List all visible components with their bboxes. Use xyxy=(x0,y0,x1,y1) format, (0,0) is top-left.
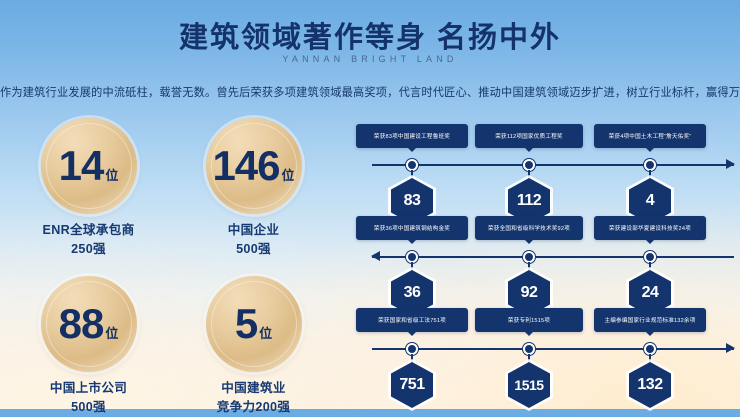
timeline-arrow-right-icon xyxy=(726,343,735,353)
page-title: 建筑领域著作等身 名扬中外 xyxy=(0,14,740,56)
award-plaque[interactable]: 荣获36项中国建筑钢结构金奖 xyxy=(356,216,468,240)
stat-label-line1: 中国建筑业 xyxy=(171,379,336,398)
stat-label-line2: 500强 xyxy=(171,240,336,259)
award-plaque[interactable]: 荣获国家和省级工法751项 xyxy=(356,308,468,332)
stat-card-listed-company: 88 位 中国上市公司 500强 xyxy=(6,276,171,416)
stat-unit: 位 xyxy=(105,165,118,184)
page-subtitle-english: YANNAN BRIGHT LAND xyxy=(0,54,740,64)
stat-label: 中国建筑业 竞争力200强 xyxy=(171,379,336,416)
intro-paragraph: 作为建筑行业发展的中流砥柱，载誉无数。曾先后荣获多项建筑领域最高奖项，代言时代匠… xyxy=(0,84,740,100)
timeline-row: 荣获83项中国建设工程鲁班奖 荣获112项国家优质工程奖 荣获4项中国土木工程“… xyxy=(372,124,734,216)
stat-card-china-enterprise: 146 位 中国企业 500强 xyxy=(171,118,336,258)
award-plaque[interactable]: 荣获83项中国建设工程鲁班奖 xyxy=(356,124,468,148)
statistics-row-bottom: 88 位 中国上市公司 500强 5 位 中国建筑业 xyxy=(6,276,336,416)
stat-unit: 位 xyxy=(259,323,272,342)
timeline-axis xyxy=(372,256,734,258)
award-plaque[interactable]: 荣获专利1515项 xyxy=(475,308,583,332)
award-plaque[interactable]: 主编参编国家行业规范标准132余项 xyxy=(594,308,706,332)
timeline-row: 荣获国家和省级工法751项 荣获专利1515项 主编参编国家行业规范标准132余… xyxy=(372,308,734,400)
timeline-plaques: 荣获83项中国建设工程鲁班奖 荣获112项国家优质工程奖 荣获4项中国土木工程“… xyxy=(372,124,734,154)
stat-value-group: 88 位 xyxy=(59,303,119,345)
stat-label-line2: 250强 xyxy=(6,240,171,259)
stat-number: 5 xyxy=(235,303,257,345)
stat-label-line1: 中国上市公司 xyxy=(6,379,171,398)
stat-label-line1: 中国企业 xyxy=(171,221,336,240)
timeline-plaques: 荣获国家和省级工法751项 荣获专利1515项 主编参编国家行业规范标准132余… xyxy=(372,308,734,338)
award-plaque[interactable]: 荣获112项国家优质工程奖 xyxy=(475,124,583,148)
stat-label: 中国企业 500强 xyxy=(171,221,336,258)
stat-number: 14 xyxy=(59,145,104,187)
award-plaque[interactable]: 荣获4项中国土木工程“詹天佑奖” xyxy=(594,124,706,148)
timeline-arrow-right-icon xyxy=(726,159,735,169)
stat-circle: 14 位 xyxy=(41,118,137,214)
stat-circle: 88 位 xyxy=(41,276,137,372)
stat-value-group: 5 位 xyxy=(235,303,272,345)
stat-label: 中国上市公司 500强 xyxy=(6,379,171,416)
statistics-panel: 14 位 ENR全球承包商 250强 146 位 中国企业 xyxy=(6,118,336,417)
award-plaque[interactable]: 荣获全国和省级科学技术奖92项 xyxy=(475,216,583,240)
statistics-row-top: 14 位 ENR全球承包商 250强 146 位 中国企业 xyxy=(6,118,336,258)
stat-label-line1: ENR全球承包商 xyxy=(6,221,171,240)
stat-label: ENR全球承包商 250强 xyxy=(6,221,171,258)
award-plaque[interactable]: 荣获建设部华夏建设科技奖24项 xyxy=(594,216,706,240)
timeline-row: 荣获36项中国建筑钢结构金奖 荣获全国和省级科学技术奖92项 荣获建设部华夏建设… xyxy=(372,216,734,308)
stat-number: 88 xyxy=(59,303,104,345)
stat-circle: 146 位 xyxy=(206,118,302,214)
stat-label-line2: 500强 xyxy=(6,398,171,417)
stat-unit: 位 xyxy=(282,165,295,184)
poster-canvas: 建筑领域著作等身 名扬中外 YANNAN BRIGHT LAND 作为建筑行业发… xyxy=(0,0,740,409)
stat-value-group: 146 位 xyxy=(212,145,294,187)
stat-card-enr: 14 位 ENR全球承包商 250强 xyxy=(6,118,171,258)
stat-label-line2: 竞争力200强 xyxy=(171,398,336,417)
stat-value-group: 14 位 xyxy=(59,145,119,187)
awards-timeline: 荣获83项中国建设工程鲁班奖 荣获112项国家优质工程奖 荣获4项中国土木工程“… xyxy=(372,124,734,400)
timeline-arrow-left-icon xyxy=(371,251,380,261)
stat-unit: 位 xyxy=(105,323,118,342)
timeline-axis xyxy=(372,164,734,166)
stat-number: 146 xyxy=(212,145,279,187)
timeline-plaques: 荣获36项中国建筑钢结构金奖 荣获全国和省级科学技术奖92项 荣获建设部华夏建设… xyxy=(372,216,734,246)
stat-circle: 5 位 xyxy=(206,276,302,372)
timeline-axis xyxy=(372,348,734,350)
stat-card-competitiveness: 5 位 中国建筑业 竞争力200强 xyxy=(171,276,336,416)
